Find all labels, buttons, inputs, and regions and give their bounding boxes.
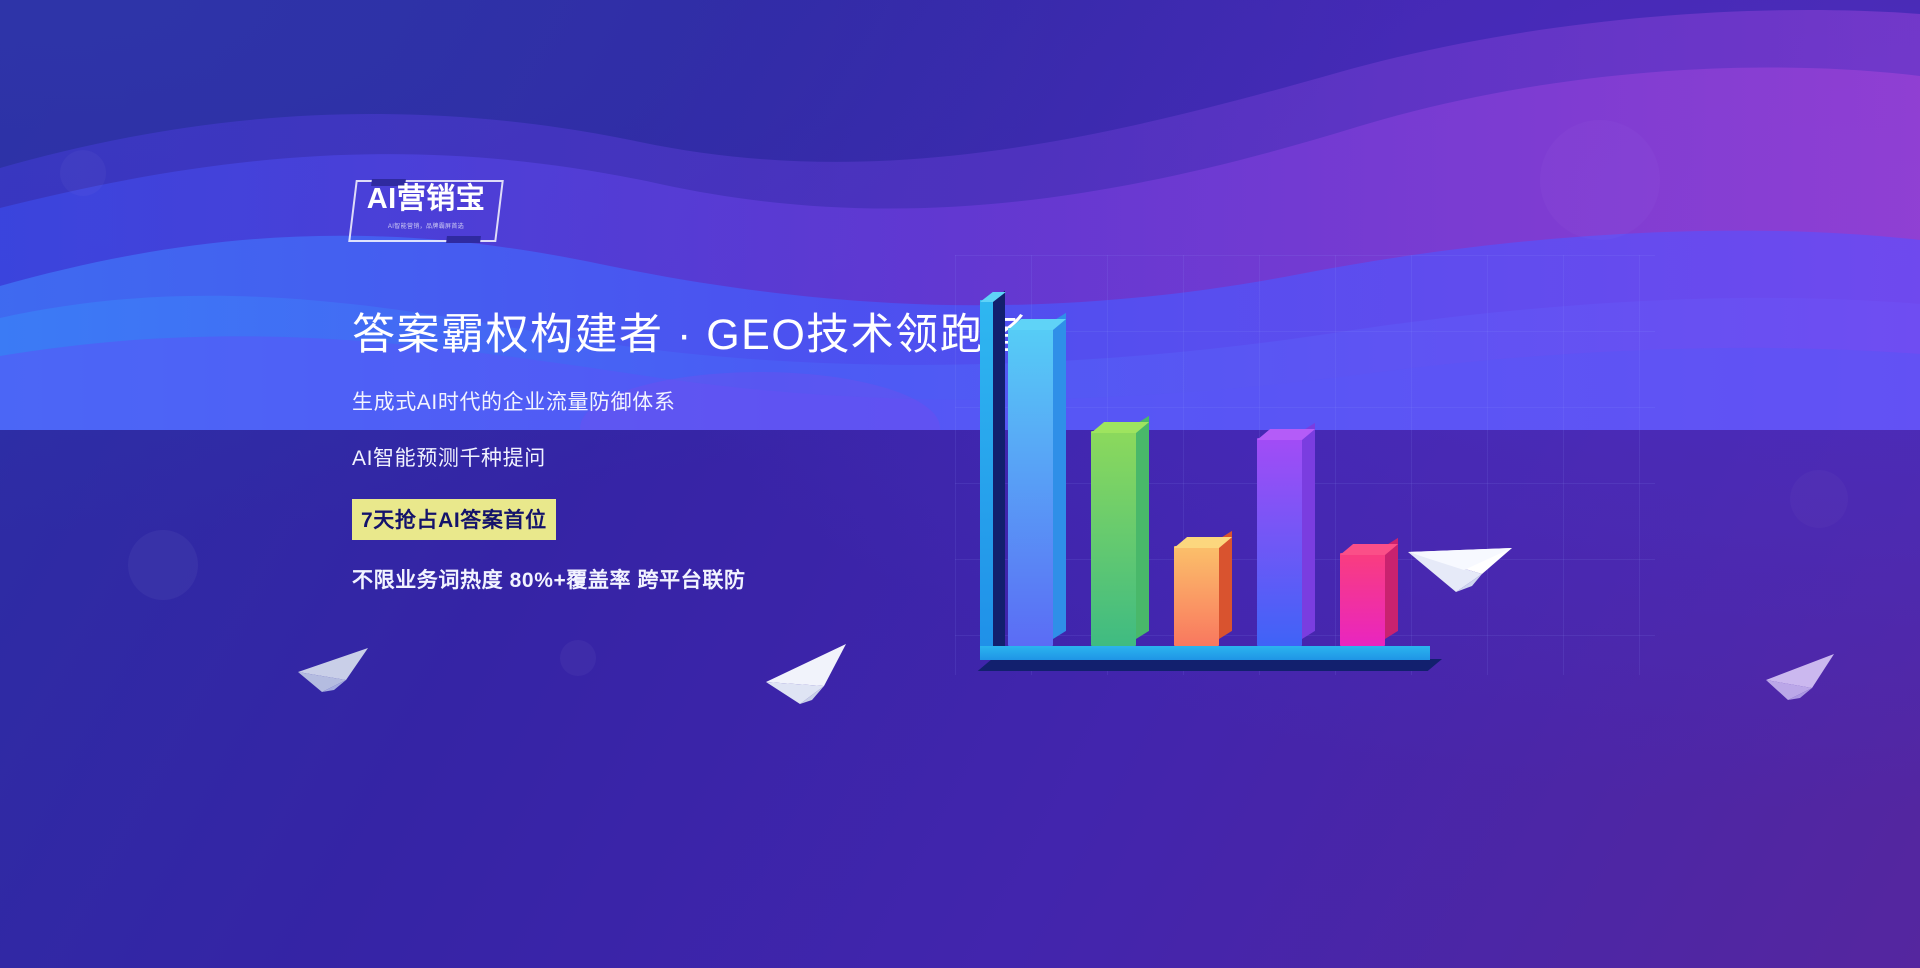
marketing-banner: AI营销宝 AI智能营销，品牌霸屏首选 答案霸权构建者 · GEO技术领跑者 生…	[0, 0, 1920, 968]
page-title: 答案霸权构建者 · GEO技术领跑者	[352, 310, 972, 362]
hero-highlight-wrap: 7天抢占AI答案首位	[352, 499, 972, 540]
hero-subline-2: AI智能预测千种提问	[352, 444, 972, 473]
decor-circle	[1790, 470, 1848, 528]
brand-logo[interactable]: AI营销宝 AI智能营销，品牌霸屏首选	[352, 180, 500, 242]
bar-1	[1008, 328, 1053, 646]
bar-side-face	[1302, 423, 1315, 639]
x-axis-front	[978, 659, 1442, 671]
hero-highlight-badge: 7天抢占AI答案首位	[352, 499, 556, 540]
logo-wordmark: AI营销宝	[352, 184, 500, 214]
bar-side-face	[1136, 416, 1149, 639]
paper-plane-icon	[1760, 640, 1844, 708]
bar-side-face	[1219, 531, 1232, 639]
hero-subline-4: 不限业务词热度 80%+覆盖率 跨平台联防	[352, 566, 972, 595]
bar-5	[1340, 553, 1385, 646]
bar-front-face	[1174, 546, 1219, 646]
paper-plane-icon	[292, 630, 378, 700]
bar-group	[1008, 300, 1448, 646]
bar-2	[1091, 431, 1136, 646]
bar-4	[1257, 438, 1302, 646]
bar-side-face	[1053, 313, 1066, 639]
decor-circle	[560, 640, 596, 676]
bar-front-face	[1340, 553, 1385, 646]
bar-front-face	[1257, 438, 1302, 646]
decor-circle	[128, 530, 198, 600]
hero-subline-1: 生成式AI时代的企业流量防御体系	[352, 388, 972, 417]
hero-copy: 答案霸权构建者 · GEO技术领跑者 生成式AI时代的企业流量防御体系 AI智能…	[352, 310, 972, 596]
paper-plane-icon	[1404, 512, 1516, 598]
bar-3	[1174, 546, 1219, 646]
logo-subtitle: AI智能营销，品牌霸屏首选	[358, 220, 494, 229]
y-axis	[980, 300, 993, 660]
decor-circle	[60, 150, 106, 196]
bar-front-face	[1008, 328, 1053, 646]
y-axis-side	[993, 291, 1005, 669]
bar-front-face	[1091, 431, 1136, 646]
paper-plane-icon	[762, 638, 854, 710]
bar-chart	[980, 300, 1450, 660]
decor-circle	[1540, 120, 1660, 240]
x-axis	[980, 646, 1430, 660]
